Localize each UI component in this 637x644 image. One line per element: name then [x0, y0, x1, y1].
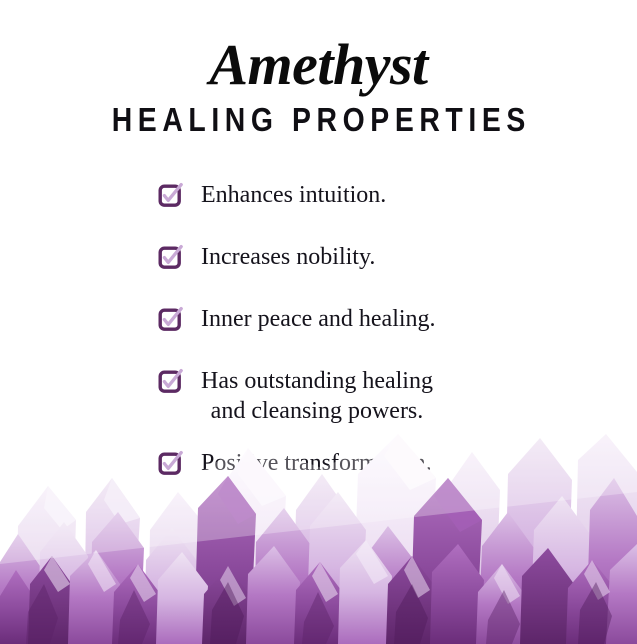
page-title: Amethyst — [0, 0, 637, 96]
checkbox-checked-icon — [158, 244, 184, 270]
list-item: Has outstanding healing and cleansing po… — [0, 366, 637, 426]
amethyst-crystal-cluster-image — [0, 434, 637, 644]
list-item: Inner peace and healing. — [0, 304, 637, 334]
list-item: Enhances intuition. — [0, 180, 637, 210]
checkbox-checked-icon — [158, 368, 184, 394]
list-item-label: Increases nobility. — [201, 242, 375, 272]
page-subtitle: HEALING PROPERTIES — [45, 96, 593, 138]
list-item: Increases nobility. — [0, 242, 637, 272]
checkbox-checked-icon — [158, 306, 184, 332]
poster-header: Amethyst HEALING PROPERTIES — [0, 0, 637, 138]
list-item-label: Has outstanding healing and cleansing po… — [201, 366, 433, 426]
list-item-label: Enhances intuition. — [201, 180, 386, 210]
list-item-label: Inner peace and healing. — [201, 304, 436, 334]
poster: Amethyst HEALING PROPERTIES Enhances int… — [0, 0, 637, 644]
checkbox-checked-icon — [158, 182, 184, 208]
